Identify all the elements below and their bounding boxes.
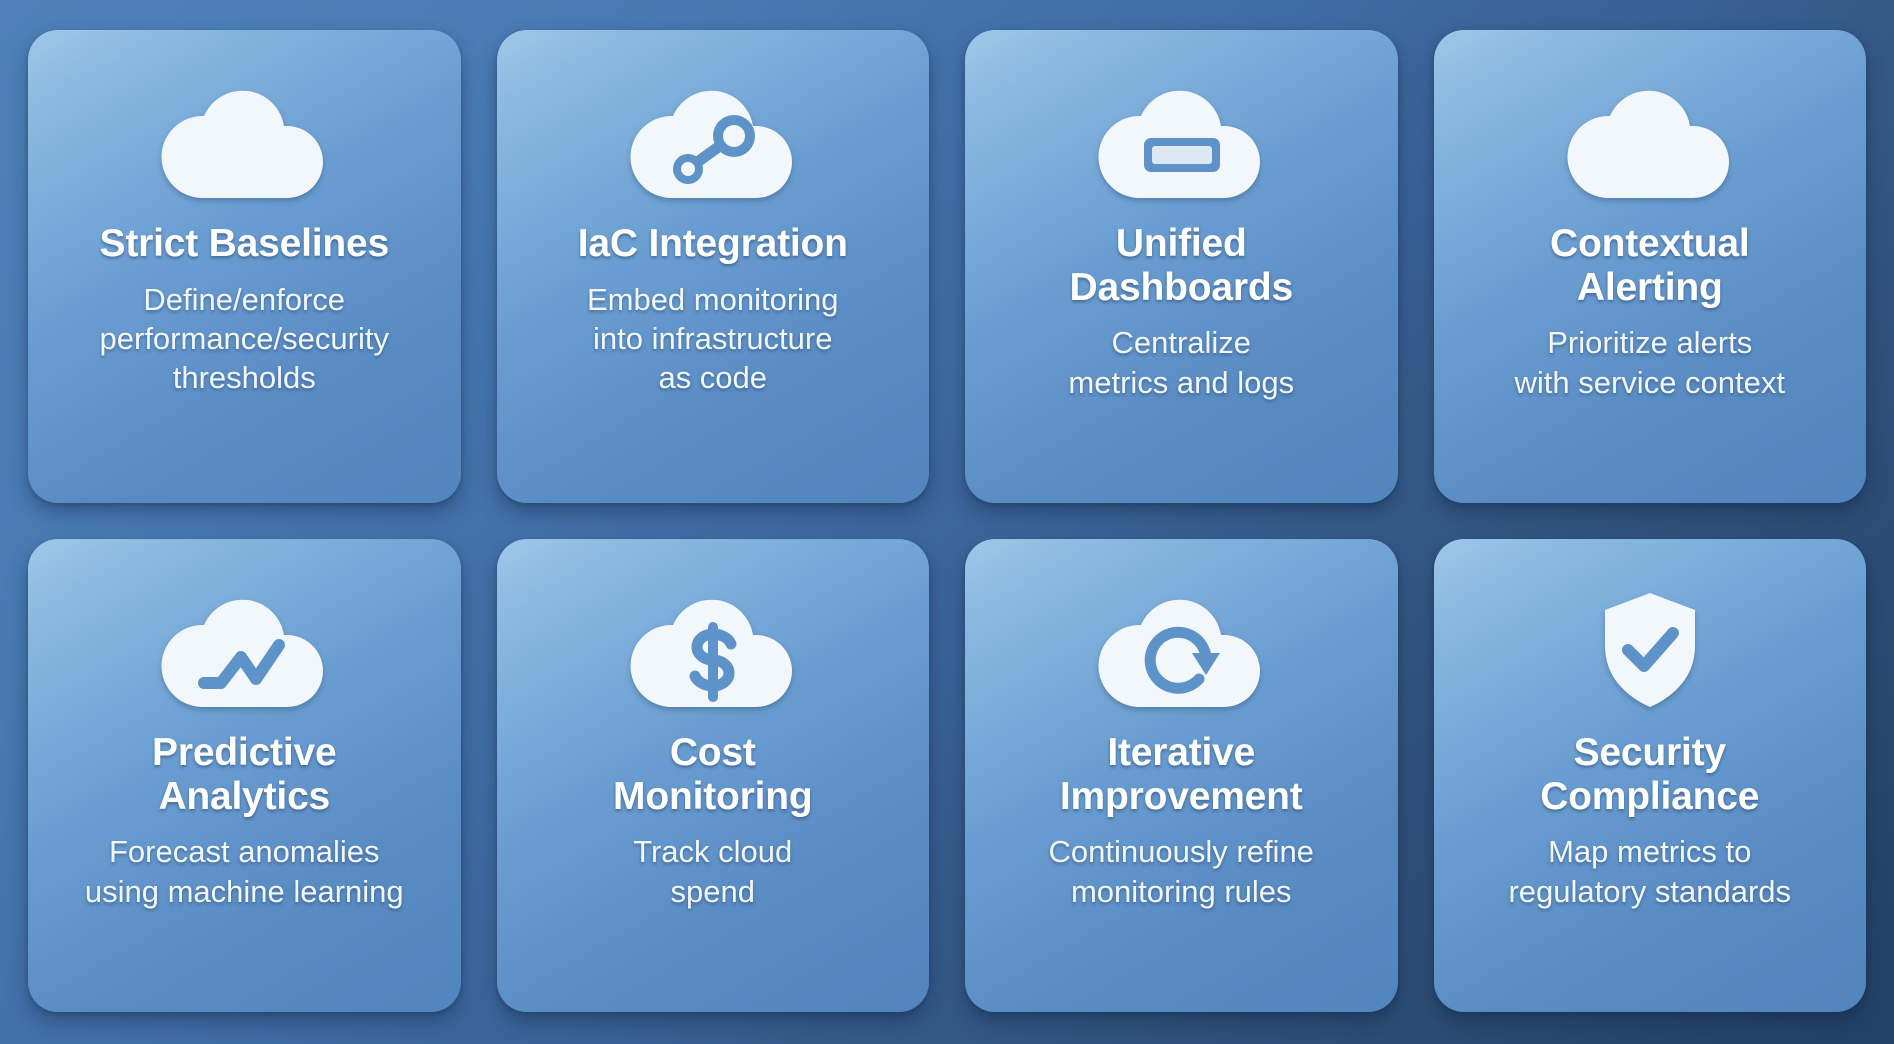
feature-card-iac-integration[interactable]: IaC Integration Embed monitoring into in… — [497, 30, 930, 503]
cloud-icon — [1555, 64, 1745, 214]
card-title: Security Compliance — [1540, 731, 1759, 818]
card-title: Cost Monitoring — [613, 731, 812, 818]
card-description: Prioritize alerts with service context — [1515, 323, 1786, 402]
feature-card-cost-monitoring[interactable]: Cost Monitoring Track cloud spend — [497, 539, 930, 1012]
cloud-icon — [149, 64, 339, 214]
card-title: Predictive Analytics — [152, 731, 336, 818]
card-title: Strict Baselines — [100, 222, 389, 266]
feature-card-contextual-alerting[interactable]: Contextual Alerting Prioritize alerts wi… — [1434, 30, 1867, 503]
card-description: Define/enforce performance/security thre… — [100, 280, 389, 398]
feature-card-predictive-analytics[interactable]: Predictive Analytics Forecast anomalies … — [28, 539, 461, 1012]
card-description: Forecast anomalies using machine learnin… — [85, 832, 404, 911]
cloud-node-link-icon — [618, 64, 808, 214]
card-title: Unified Dashboards — [1070, 222, 1293, 309]
card-description: Track cloud spend — [633, 832, 792, 911]
cloud-dashboard-icon — [1086, 64, 1276, 214]
feature-card-strict-baselines[interactable]: Strict Baselines Define/enforce performa… — [28, 30, 461, 503]
card-description: Continuously refine monitoring rules — [1049, 832, 1314, 911]
feature-card-security-compliance[interactable]: Security Compliance Map metrics to regul… — [1434, 539, 1867, 1012]
feature-card-grid: Strict Baselines Define/enforce performa… — [0, 0, 1894, 1044]
cloud-trendline-icon — [149, 573, 339, 723]
card-title: IaC Integration — [578, 222, 848, 266]
cloud-dollar-icon — [618, 573, 808, 723]
feature-card-iterative-improvement[interactable]: Iterative Improvement Continuously refin… — [965, 539, 1398, 1012]
card-description: Embed monitoring into infrastructure as … — [587, 280, 839, 398]
card-description: Map metrics to regulatory standards — [1508, 832, 1791, 911]
card-title: Iterative Improvement — [1060, 731, 1303, 818]
card-description: Centralize metrics and logs — [1068, 323, 1294, 402]
cloud-refresh-icon — [1086, 573, 1276, 723]
feature-card-unified-dashboards[interactable]: Unified Dashboards Centralize metrics an… — [965, 30, 1398, 503]
card-title: Contextual Alerting — [1550, 222, 1750, 309]
shield-check-icon — [1555, 573, 1745, 723]
